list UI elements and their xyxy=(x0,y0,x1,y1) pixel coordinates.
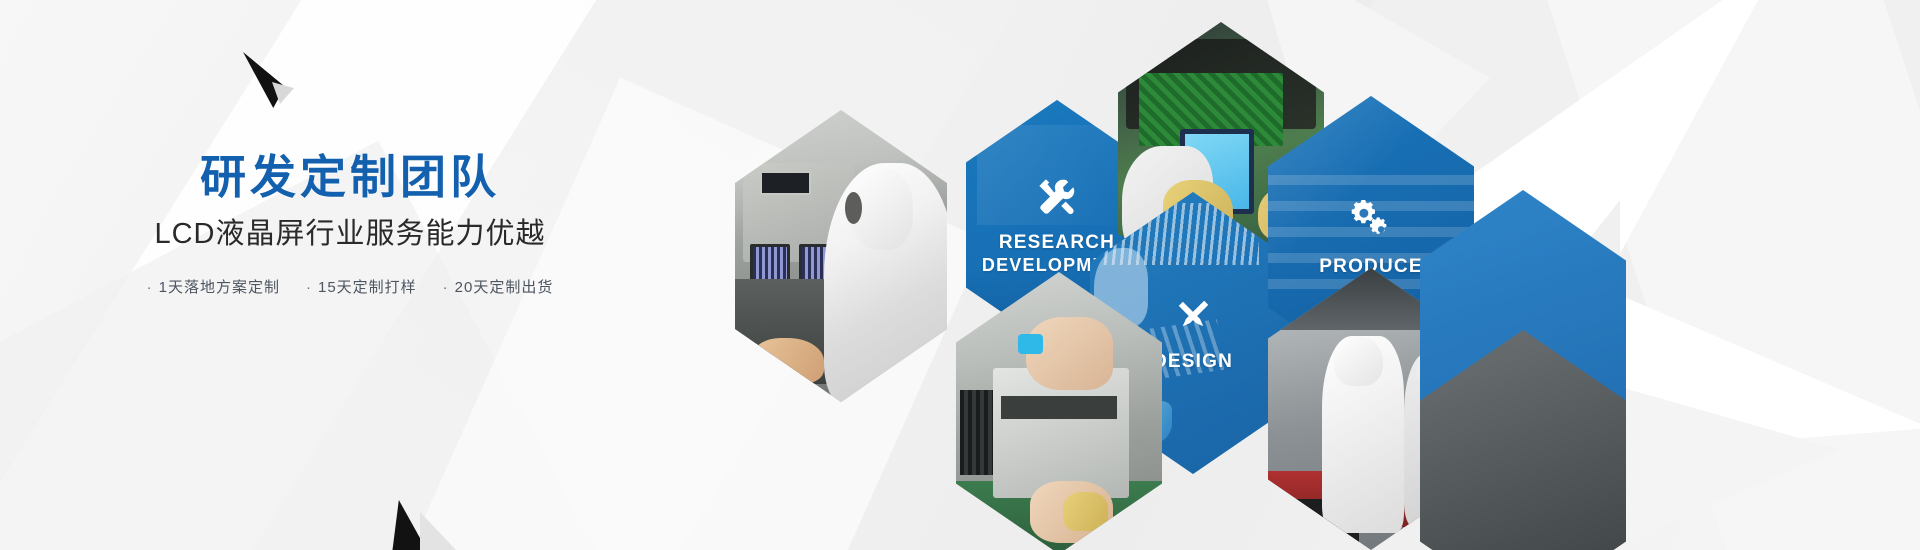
list-item: ·20天定制出货 xyxy=(443,276,554,297)
bullet-text: 20天定制出货 xyxy=(455,279,554,296)
pencil-ruler-icon xyxy=(1170,293,1216,339)
hexagon-photo-operator[interactable] xyxy=(735,110,947,402)
list-item: ·1天落地方案定制 xyxy=(147,276,280,297)
operator-photo xyxy=(735,110,947,402)
feature-bullet-list: ·1天落地方案定制 ·15天定制打样 ·20天定制出货 xyxy=(0,276,700,297)
bullet-dot-icon: · xyxy=(306,279,312,296)
hexagon-cluster: RESEARCH DEVELOPMENT xyxy=(720,0,1920,550)
bullet-dot-icon: · xyxy=(443,279,449,296)
bullet-text: 1天落地方案定制 xyxy=(159,279,280,296)
gears-icon xyxy=(1347,196,1395,244)
list-item: ·15天定制打样 xyxy=(306,276,417,297)
bullet-dot-icon: · xyxy=(147,279,153,296)
wrench-screwdriver-icon xyxy=(1034,174,1080,220)
banner-root: 研发定制团队 LCD液晶屏行业服务能力优越 ·1天落地方案定制 ·15天定制打样… xyxy=(0,0,1920,550)
hexagon-label: DESIGN xyxy=(1153,351,1233,373)
headline-block: 研发定制团队 LCD液晶屏行业服务能力优越 ·1天落地方案定制 ·15天定制打样… xyxy=(0,150,700,297)
hexagon-label: RESEARCH xyxy=(999,232,1115,254)
bullet-text: 15天定制打样 xyxy=(318,279,417,296)
page-subtitle: LCD液晶屏行业服务能力优越 xyxy=(0,216,700,254)
page-title: 研发定制团队 xyxy=(0,150,700,204)
